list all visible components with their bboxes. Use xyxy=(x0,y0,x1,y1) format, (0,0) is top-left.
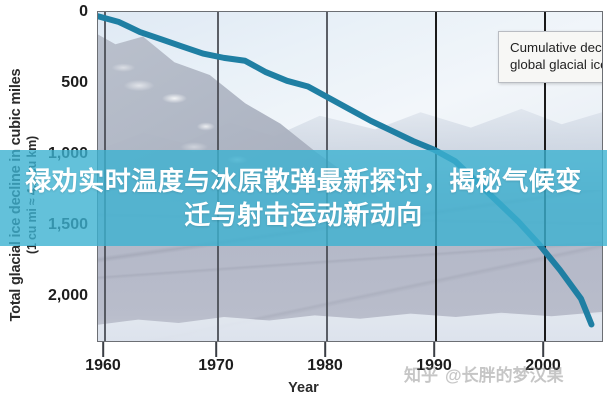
y-tick-label-0: 0 xyxy=(36,3,88,21)
x-tick-mark-1970 xyxy=(215,342,217,357)
screenshot-root: Total glacial ice decline in cubic miles… xyxy=(0,0,607,400)
x-axis-title: Year xyxy=(0,380,607,396)
x-tick-mark-1990 xyxy=(433,342,435,357)
x-tick-label-1960: 1960 xyxy=(85,357,121,375)
x-tick-mark-1960 xyxy=(102,342,104,357)
annotation-callout: Cumulative decrease in global glacial ic… xyxy=(498,31,603,83)
x-tick-label-1970: 1970 xyxy=(198,357,234,375)
x-tick-mark-1980 xyxy=(324,342,326,357)
x-tick-label-1980: 1980 xyxy=(307,357,343,375)
x-tick-label-2000: 2000 xyxy=(525,357,561,375)
x-tick-label-1990: 1990 xyxy=(416,357,452,375)
y-tick-label-500: 500 xyxy=(36,74,88,92)
annotation-text: Cumulative decrease in global glacial ic… xyxy=(510,40,603,72)
x-tick-mark-2000 xyxy=(542,342,544,357)
overlay-headline-banner: 禄劝实时温度与冰原散弹最新探讨，揭秘气候变迁与射击运动新动向 xyxy=(0,150,607,246)
x-axis-tick-group xyxy=(0,342,607,358)
overlay-headline-text: 禄劝实时温度与冰原散弹最新探讨，揭秘气候变迁与射击运动新动向 xyxy=(24,164,584,233)
y-tick-label-2000: 2,000 xyxy=(36,287,88,305)
